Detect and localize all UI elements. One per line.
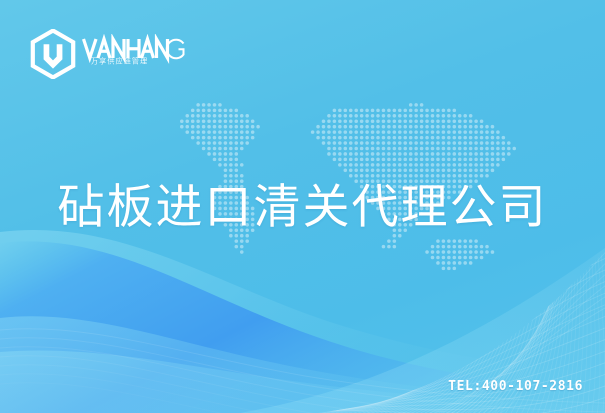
promo-banner: 万享供应链管理 砧板进口清关代理公司 TEL:400-107-2816	[0, 0, 605, 413]
page-title: 砧板进口清关代理公司	[0, 179, 605, 237]
hexagon-u-logo-icon	[30, 29, 76, 79]
logo-subtitle: 万享供应链管理	[91, 57, 181, 66]
company-logo[interactable]: 万享供应链管理	[30, 28, 190, 80]
contact-phone[interactable]: TEL:400-107-2816	[448, 379, 583, 394]
logo-text-block: 万享供应链管理	[82, 32, 186, 76]
